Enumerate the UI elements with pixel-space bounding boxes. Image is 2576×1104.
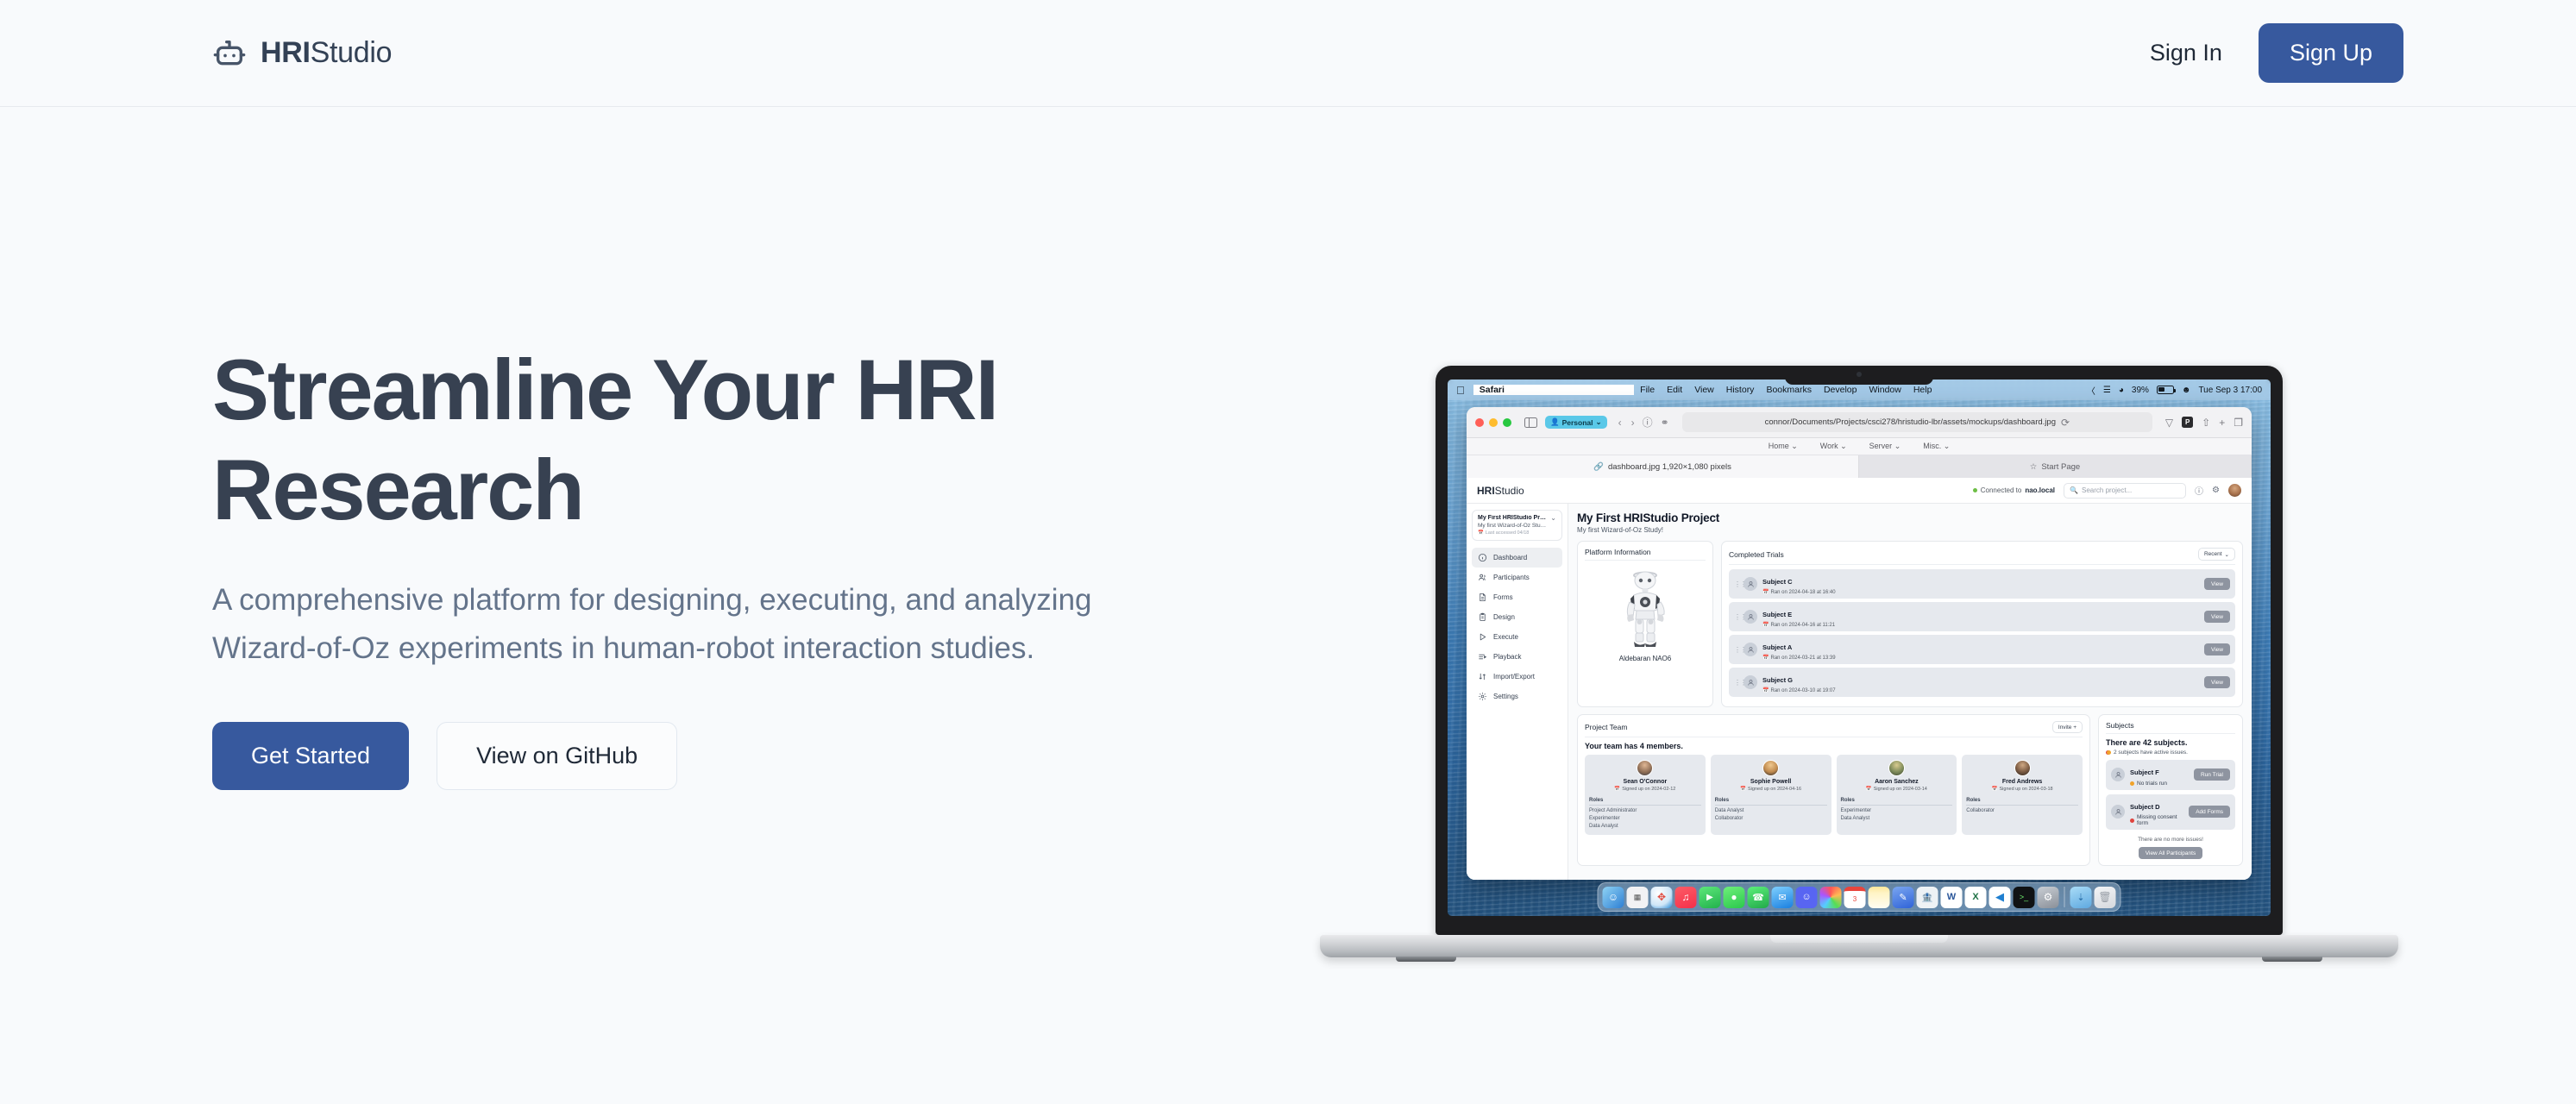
list-item[interactable]: Subject F No trials run Run Trial bbox=[2106, 760, 2235, 790]
calendar-icon: 📅 bbox=[1740, 787, 1746, 792]
card-title: Platform Information bbox=[1585, 548, 1651, 556]
list-item[interactable]: Subject D Missing consent form Add Forms bbox=[2106, 794, 2235, 831]
roles-label: Roles bbox=[1715, 798, 1827, 806]
no-more-issues-text: There are no more issues! bbox=[2106, 837, 2235, 843]
users-icon bbox=[1478, 573, 1487, 582]
menubar-item-edit[interactable]: Edit bbox=[1661, 385, 1688, 395]
chevron-down-icon: ⌄ bbox=[1596, 417, 1602, 427]
project-description: My first Wizard-of-Oz Study! bbox=[1478, 523, 1547, 529]
sidebar-item-import-export[interactable]: Import/Export bbox=[1472, 667, 1562, 687]
avatar bbox=[1744, 610, 1757, 624]
status-dot-icon bbox=[2130, 819, 2134, 823]
card-title: Project Team bbox=[1585, 723, 1627, 731]
sign-up-button[interactable]: Sign Up bbox=[2259, 23, 2403, 83]
view-all-wrap: View All Participants bbox=[2106, 847, 2235, 859]
member-signup: 📅Signed up on 2024-03-18 bbox=[1992, 787, 2053, 792]
member-role: Data Analyst bbox=[1715, 808, 1827, 813]
notes-icon[interactable] bbox=[1869, 887, 1890, 908]
brand-text: HRIStudio bbox=[261, 36, 392, 70]
sidebar-item-label: Design bbox=[1493, 613, 1515, 621]
person-icon: 👤 bbox=[1550, 417, 1560, 427]
app-main: My First HRIStudio Project My first Wiza… bbox=[1568, 504, 2252, 880]
safari-toolbar: 👤 Personal ⌄ ‹ › ⓘ ⚭ connor/Doc bbox=[1467, 407, 2252, 438]
playback-icon bbox=[1478, 652, 1487, 662]
get-started-button[interactable]: Get Started bbox=[212, 722, 409, 790]
menubar-item-bookmarks[interactable]: Bookmarks bbox=[1760, 385, 1818, 395]
dashboard-subtitle: My first Wizard-of-Oz Study! bbox=[1577, 526, 2243, 534]
chevron-down-icon: ⌄ bbox=[2225, 551, 2229, 558]
roles-label: Roles bbox=[1589, 798, 1701, 806]
dashboard-title: My First HRIStudio Project bbox=[1577, 511, 2243, 524]
calendar-icon: 📅 bbox=[1478, 530, 1484, 536]
run-trial-button[interactable]: Run Trial bbox=[2194, 768, 2230, 781]
drag-handle-icon[interactable]: ⋮⋮ bbox=[1734, 614, 1738, 620]
member-name: Aaron Sanchez bbox=[1875, 779, 1919, 785]
avatar bbox=[2111, 805, 2125, 819]
member-signup: 📅Signed up on 2024-04-16 bbox=[1740, 787, 1801, 792]
menubar-clock[interactable]: Tue Sep 3 17:00 bbox=[2198, 386, 2262, 395]
brand-logo[interactable]: HRIStudio bbox=[212, 36, 392, 71]
subject-status: Missing consent form bbox=[2130, 814, 2183, 826]
document-icon bbox=[1478, 593, 1487, 602]
avatar bbox=[1888, 760, 1905, 776]
sign-in-button[interactable]: Sign In bbox=[2145, 31, 2227, 75]
calendar-icon[interactable]: 3 bbox=[1844, 887, 1866, 908]
sidebar-item-design[interactable]: Design bbox=[1472, 607, 1562, 627]
robot-name: Aldebaran NAO6 bbox=[1585, 653, 1706, 662]
avatar bbox=[1637, 760, 1653, 776]
table-row[interactable]: ⋮⋮ Subject C 📅Ran on 2024-04-18 at 16:40… bbox=[1729, 569, 2235, 599]
battery-icon[interactable] bbox=[2157, 386, 2174, 394]
search-icon: 🔍 bbox=[2070, 486, 2078, 494]
word-icon[interactable]: W bbox=[1941, 887, 1963, 908]
facetime-icon[interactable]: ▶ bbox=[1700, 887, 1721, 908]
sidebar-item-label: Participants bbox=[1493, 574, 1530, 581]
trial-meta: 📅Ran on 2024-03-21 at 13:39 bbox=[1762, 655, 2199, 661]
sidebar-toggle-icon[interactable] bbox=[1524, 417, 1537, 428]
bluetooth-icon[interactable]: 〈 bbox=[2087, 384, 2095, 397]
connection-host: nao.local bbox=[2025, 486, 2055, 494]
platform-information-card: Platform Information bbox=[1577, 541, 1713, 707]
member-role: Project Administrator bbox=[1589, 808, 1701, 813]
card-title: Subjects bbox=[2106, 721, 2134, 730]
laptop-mockup:  Safari File Edit View History Bookmark… bbox=[1320, 366, 2398, 1021]
tab-title: Start Page bbox=[2041, 462, 2080, 472]
downloads-icon[interactable]: ▽ bbox=[2165, 417, 2173, 429]
menubar-item-view[interactable]: View bbox=[1688, 385, 1720, 395]
menubar-item-develop[interactable]: Develop bbox=[1818, 385, 1863, 395]
list-item[interactable]: Fred Andrews 📅Signed up on 2024-03-18 Ro… bbox=[1962, 755, 2083, 835]
avatar bbox=[1744, 577, 1757, 591]
app-logo[interactable]: HRIStudio bbox=[1477, 485, 1524, 497]
sidebar-item-label: Settings bbox=[1493, 693, 1518, 700]
subject-name: Subject F bbox=[2130, 768, 2159, 776]
sidebar-item-label: Execute bbox=[1493, 633, 1518, 641]
minimize-icon[interactable] bbox=[1489, 418, 1498, 427]
share-icon[interactable]: ⇧ bbox=[2202, 417, 2210, 429]
card-title: Completed Trials bbox=[1729, 550, 1784, 559]
battery-percent: 39% bbox=[2132, 386, 2149, 395]
back-icon[interactable]: ‹ bbox=[1618, 417, 1622, 429]
mail-icon[interactable]: ✉ bbox=[1772, 887, 1794, 908]
dashboard-bottom-row: Project Team Invite + Your team has 4 me… bbox=[1577, 714, 2243, 866]
toolbar-right: ▽ P ⇧ + ❐ bbox=[2165, 417, 2243, 429]
photos-icon[interactable] bbox=[1820, 887, 1842, 908]
avatar bbox=[2014, 760, 2031, 776]
brand-light: Studio bbox=[311, 36, 393, 69]
menubar-item-file[interactable]: File bbox=[1634, 385, 1661, 395]
member-signup: 📅Signed up on 2024-02-12 bbox=[1614, 787, 1675, 792]
member-role: Data Analyst bbox=[1589, 824, 1701, 829]
import-export-icon bbox=[1478, 672, 1487, 681]
sidebar-item-label: Import/Export bbox=[1493, 673, 1535, 681]
tab-title: dashboard.jpg 1,920×1,080 pixels bbox=[1608, 462, 1731, 472]
url-text: connor/Documents/Projects/csci278/hristu… bbox=[1765, 417, 2056, 427]
member-name: Sophie Powell bbox=[1750, 779, 1791, 785]
avatar bbox=[1744, 675, 1757, 689]
trial-meta: 📅Ran on 2024-03-10 at 19:07 bbox=[1762, 687, 2199, 693]
table-row[interactable]: ⋮⋮ Subject G 📅Ran on 2024-03-10 at 19:07… bbox=[1729, 668, 2235, 697]
sidebar-item-participants[interactable]: Participants bbox=[1472, 568, 1562, 587]
drag-handle-icon[interactable]: ⋮⋮ bbox=[1734, 581, 1738, 587]
subjects-card: Subjects There are 42 subjects. 2 subjec… bbox=[2098, 714, 2243, 866]
trial-meta: 📅Ran on 2024-04-16 at 11:21 bbox=[1762, 622, 2199, 628]
sidebar-item-label: Dashboard bbox=[1493, 554, 1527, 561]
dashboard-top-row: Platform Information bbox=[1577, 541, 2243, 707]
avatar[interactable] bbox=[2228, 484, 2241, 497]
project-selector[interactable]: My First HRIStudio Project My first Wiza… bbox=[1472, 510, 1562, 541]
trial-subject: Subject C bbox=[1762, 578, 1793, 586]
close-icon[interactable] bbox=[1475, 418, 1484, 427]
hristudio-app: HRIStudio Connected to nao.local 🔍 Searc bbox=[1467, 478, 2252, 880]
sidebar-item-playback[interactable]: Playback bbox=[1472, 647, 1562, 667]
member-role: Experimenter bbox=[1841, 808, 1953, 813]
table-row[interactable]: ⋮⋮ Subject E 📅Ran on 2024-04-16 at 11:21… bbox=[1729, 602, 2235, 631]
calendar-icon: 📅 bbox=[1762, 589, 1769, 595]
laptop-screen:  Safari File Edit View History Bookmark… bbox=[1448, 379, 2271, 916]
project-name: My First HRIStudio Project bbox=[1478, 515, 1547, 521]
macos-dock: ☺ ▦ ✥ ♫ ▶ ● ☎ ✉ ☺ 3 ✎ 🏦 W bbox=[1598, 882, 2121, 912]
hero-section: Streamline Your HRI Research A comprehen… bbox=[0, 107, 2576, 1104]
view-trial-button[interactable]: View bbox=[2204, 578, 2230, 590]
star-icon: ☆ bbox=[2030, 462, 2038, 472]
trial-subject: Subject G bbox=[1762, 676, 1793, 684]
card-header: Completed Trials Recent⌄ bbox=[1729, 548, 2235, 565]
trial-subject: Subject E bbox=[1762, 611, 1792, 618]
system-settings-icon[interactable]: ⚙ bbox=[2038, 887, 2059, 908]
sidebar-item-label: Playback bbox=[1493, 653, 1521, 661]
shield-icon[interactable]: ⚭ bbox=[1661, 417, 1669, 429]
avatar bbox=[1762, 760, 1779, 776]
subject-name: Subject D bbox=[2130, 803, 2160, 811]
card-header: Platform Information bbox=[1585, 548, 1706, 561]
bookmark-server[interactable]: Server ⌄ bbox=[1869, 442, 1901, 451]
calendar-icon: 📅 bbox=[1762, 687, 1769, 693]
bank-icon[interactable]: 🏦 bbox=[1917, 887, 1938, 908]
avatar bbox=[1744, 643, 1757, 656]
search-input[interactable]: 🔍 Search project... bbox=[2064, 483, 2186, 499]
discord-icon[interactable]: ☺ bbox=[1796, 887, 1818, 908]
dock-divider bbox=[2064, 887, 2065, 907]
play-icon bbox=[1478, 632, 1487, 642]
project-team-card: Project Team Invite + Your team has 4 me… bbox=[1577, 714, 2090, 866]
webcam-icon bbox=[1857, 372, 1862, 377]
team-count: Your team has 4 members. bbox=[1585, 742, 2083, 750]
laptop-foot-right bbox=[2262, 957, 2322, 962]
link-icon: 🔗 bbox=[1593, 462, 1604, 472]
card-header: Subjects bbox=[2106, 721, 2235, 734]
sidebar-item-settings[interactable]: Settings bbox=[1472, 687, 1562, 706]
member-role: Collaborator bbox=[1715, 816, 1827, 821]
roles-label: Roles bbox=[1841, 798, 1953, 806]
address-bar[interactable]: connor/Documents/Projects/csci278/hristu… bbox=[1682, 412, 2152, 432]
forward-icon[interactable]: › bbox=[1631, 417, 1635, 429]
view-all-participants-button[interactable]: View All Participants bbox=[2139, 847, 2202, 859]
help-icon[interactable]: ⓘ bbox=[2195, 484, 2203, 497]
team-member-grid: Sean O'Connor 📅Signed up on 2024-02-12 R… bbox=[1585, 755, 2083, 835]
profile-label: Personal bbox=[1562, 418, 1593, 427]
calendar-icon: 📅 bbox=[1762, 622, 1769, 628]
robot-icon bbox=[212, 36, 247, 71]
sidebar-item-forms[interactable]: Forms bbox=[1472, 587, 1562, 607]
bookmarks-bar: Home ⌄ Work ⌄ Server ⌄ Misc. ⌄ bbox=[1467, 438, 2252, 455]
finder-icon[interactable]: ☺ bbox=[1603, 887, 1624, 908]
invite-button[interactable]: Invite + bbox=[2052, 721, 2083, 733]
tab-dashboard-jpg[interactable]: 🔗 dashboard.jpg 1,920×1,080 pixels bbox=[1467, 455, 1859, 478]
menubar-item-safari[interactable]: Safari bbox=[1473, 385, 1634, 395]
laptop-base bbox=[1320, 935, 2398, 957]
trial-meta: 📅Ran on 2024-04-18 at 16:40 bbox=[1762, 589, 2199, 595]
sidebar-list-icon[interactable]: ⓘ bbox=[1643, 415, 1653, 430]
menubar-item-history[interactable]: History bbox=[1720, 385, 1761, 395]
downloads-icon[interactable]: ⇣ bbox=[2070, 887, 2092, 908]
nao-robot-icon bbox=[1618, 568, 1672, 650]
reload-icon[interactable]: ⟳ bbox=[2061, 417, 2070, 429]
calendar-icon: 📅 bbox=[1992, 787, 1998, 792]
chevron-down-icon: ⌄ bbox=[1550, 515, 1556, 522]
window-controls bbox=[1475, 418, 1511, 427]
music-icon[interactable]: ♫ bbox=[1675, 887, 1697, 908]
calendar-icon: 📅 bbox=[1614, 787, 1620, 792]
nav-arrows: ‹ › bbox=[1618, 417, 1635, 429]
connection-status: Connected to nao.local bbox=[1973, 486, 2055, 494]
laptop:  Safari File Edit View History Bookmark… bbox=[1320, 366, 2398, 957]
header-actions: Sign In Sign Up bbox=[2145, 23, 2403, 83]
member-name: Sean O'Connor bbox=[1624, 779, 1668, 785]
safari-window: 👤 Personal ⌄ ‹ › ⓘ ⚭ connor/Doc bbox=[1467, 407, 2252, 880]
maximize-icon[interactable] bbox=[1503, 418, 1511, 427]
launchpad-icon[interactable]: ▦ bbox=[1627, 887, 1649, 908]
clipboard-icon bbox=[1478, 612, 1487, 622]
drag-handle-icon[interactable]: ⋮⋮ bbox=[1734, 680, 1738, 686]
sidebar-item-execute[interactable]: Execute bbox=[1472, 627, 1562, 647]
sidebar-item-dashboard[interactable]: Dashboard bbox=[1472, 548, 1562, 568]
member-role: Collaborator bbox=[1966, 808, 2078, 813]
safari-profile-button[interactable]: 👤 Personal ⌄ bbox=[1545, 416, 1607, 429]
subjects-count: There are 42 subjects. bbox=[2106, 738, 2235, 747]
status-dot-icon bbox=[2107, 750, 2111, 755]
status-dot-icon bbox=[1973, 488, 1977, 492]
bookmark-misc[interactable]: Misc. ⌄ bbox=[1923, 442, 1950, 451]
vscode-icon[interactable]: ◀ bbox=[1989, 887, 2011, 908]
laptop-foot-left bbox=[1396, 957, 1456, 962]
list-item[interactable]: Aaron Sanchez 📅Signed up on 2024-03-14 R… bbox=[1837, 755, 1957, 835]
list-item[interactable]: Sean O'Connor 📅Signed up on 2024-02-12 R… bbox=[1585, 755, 1706, 835]
hero-copy: Streamline Your HRI Research A comprehen… bbox=[0, 107, 1329, 790]
terminal-icon[interactable]: >_ bbox=[2014, 887, 2035, 908]
avatar bbox=[2111, 768, 2125, 781]
subject-status: No trials run bbox=[2130, 781, 2189, 787]
member-role: Data Analyst bbox=[1841, 816, 1953, 821]
laptop-lid:  Safari File Edit View History Bookmark… bbox=[1436, 366, 2283, 935]
app-header: HRIStudio Connected to nao.local 🔍 Searc bbox=[1467, 478, 2252, 504]
wifi-icon[interactable]: ◕ bbox=[2119, 386, 2124, 395]
hero-cta-group: Get Started View on GitHub bbox=[212, 722, 1329, 790]
user-switch-icon[interactable]: ☻ bbox=[2182, 386, 2191, 395]
project-last-accessed: 📅 Last accessed 04/18 bbox=[1478, 530, 1547, 536]
page-title: Streamline Your HRI Research bbox=[212, 340, 1230, 540]
laptop-notch bbox=[1785, 366, 1933, 385]
app-body: My First HRIStudio Project My first Wiza… bbox=[1467, 504, 2252, 880]
trial-subject: Subject A bbox=[1762, 643, 1792, 651]
sidebar-item-label: Forms bbox=[1493, 593, 1513, 601]
laptop-base-notch bbox=[1770, 935, 1948, 943]
app-sidebar: My First HRIStudio Project My first Wiza… bbox=[1467, 504, 1568, 880]
excel-icon[interactable]: X bbox=[1965, 887, 1987, 908]
gear-icon[interactable]: ⚙ bbox=[2212, 486, 2220, 495]
subjects-issues: 2 subjects have active issues. bbox=[2106, 750, 2235, 756]
apple-icon[interactable]:  bbox=[1456, 385, 1465, 396]
trials-filter-dropdown[interactable]: Recent⌄ bbox=[2198, 548, 2235, 561]
view-on-github-button[interactable]: View on GitHub bbox=[437, 722, 677, 790]
view-trial-button[interactable]: View bbox=[2204, 643, 2230, 655]
drag-handle-icon[interactable]: ⋮⋮ bbox=[1734, 647, 1738, 653]
robot-image bbox=[1585, 565, 1706, 653]
safari-icon[interactable]: ✥ bbox=[1651, 887, 1673, 908]
list-item[interactable]: Sophie Powell 📅Signed up on 2024-04-16 R… bbox=[1711, 755, 1831, 835]
tab-start-page[interactable]: ☆ Start Page bbox=[1859, 455, 2252, 478]
menubar-item-help[interactable]: Help bbox=[1907, 385, 1938, 395]
trash-icon[interactable]: 🗑 bbox=[2095, 887, 2116, 908]
menubar-item-window[interactable]: Window bbox=[1863, 385, 1907, 395]
status-dot-icon bbox=[2130, 781, 2134, 786]
control-center-icon[interactable]: ☰ bbox=[2103, 386, 2111, 395]
member-name: Fred Andrews bbox=[2002, 779, 2042, 785]
info-circle-icon bbox=[1478, 553, 1487, 562]
view-trial-button[interactable]: View bbox=[2204, 611, 2230, 623]
table-row[interactable]: ⋮⋮ Subject A 📅Ran on 2024-03-21 at 13:39… bbox=[1729, 635, 2235, 664]
calendar-icon: 📅 bbox=[1762, 655, 1769, 661]
roles-label: Roles bbox=[1966, 798, 2078, 806]
add-forms-button[interactable]: Add Forms bbox=[2189, 806, 2230, 818]
pdf-icon[interactable]: P bbox=[2182, 417, 2193, 428]
whatsapp-icon[interactable]: ☎ bbox=[1748, 887, 1769, 908]
view-trial-button[interactable]: View bbox=[2204, 676, 2230, 688]
gear-icon bbox=[1478, 692, 1487, 701]
hero-subtitle: A comprehensive platform for designing, … bbox=[212, 576, 1153, 674]
member-role: Experimenter bbox=[1589, 816, 1701, 821]
tab-overview-icon[interactable]: ❐ bbox=[2234, 417, 2243, 429]
calendar-icon: 📅 bbox=[1866, 787, 1872, 792]
messages-icon[interactable]: ● bbox=[1724, 887, 1745, 908]
menubar-status: 〈 ☰ ◕ 39% ☻ Tue Sep 3 17:00 bbox=[2087, 384, 2262, 397]
completed-trials-card: Completed Trials Recent⌄ ⋮⋮ bbox=[1721, 541, 2243, 707]
bookmark-work[interactable]: Work ⌄ bbox=[1820, 442, 1847, 451]
brand-bold: HRI bbox=[261, 36, 311, 69]
tab-bar: 🔗 dashboard.jpg 1,920×1,080 pixels ☆ Sta… bbox=[1467, 455, 2252, 478]
site-header: HRIStudio Sign In Sign Up bbox=[0, 0, 2576, 107]
notability-icon[interactable]: ✎ bbox=[1893, 887, 1914, 908]
member-signup: 📅Signed up on 2024-03-14 bbox=[1866, 787, 1927, 792]
search-placeholder: Search project... bbox=[2082, 486, 2132, 494]
bookmark-home[interactable]: Home ⌄ bbox=[1769, 442, 1798, 451]
new-tab-icon[interactable]: + bbox=[2219, 417, 2225, 429]
connection-prefix: Connected to bbox=[1981, 486, 2022, 494]
card-header: Project Team Invite + bbox=[1585, 721, 2083, 737]
